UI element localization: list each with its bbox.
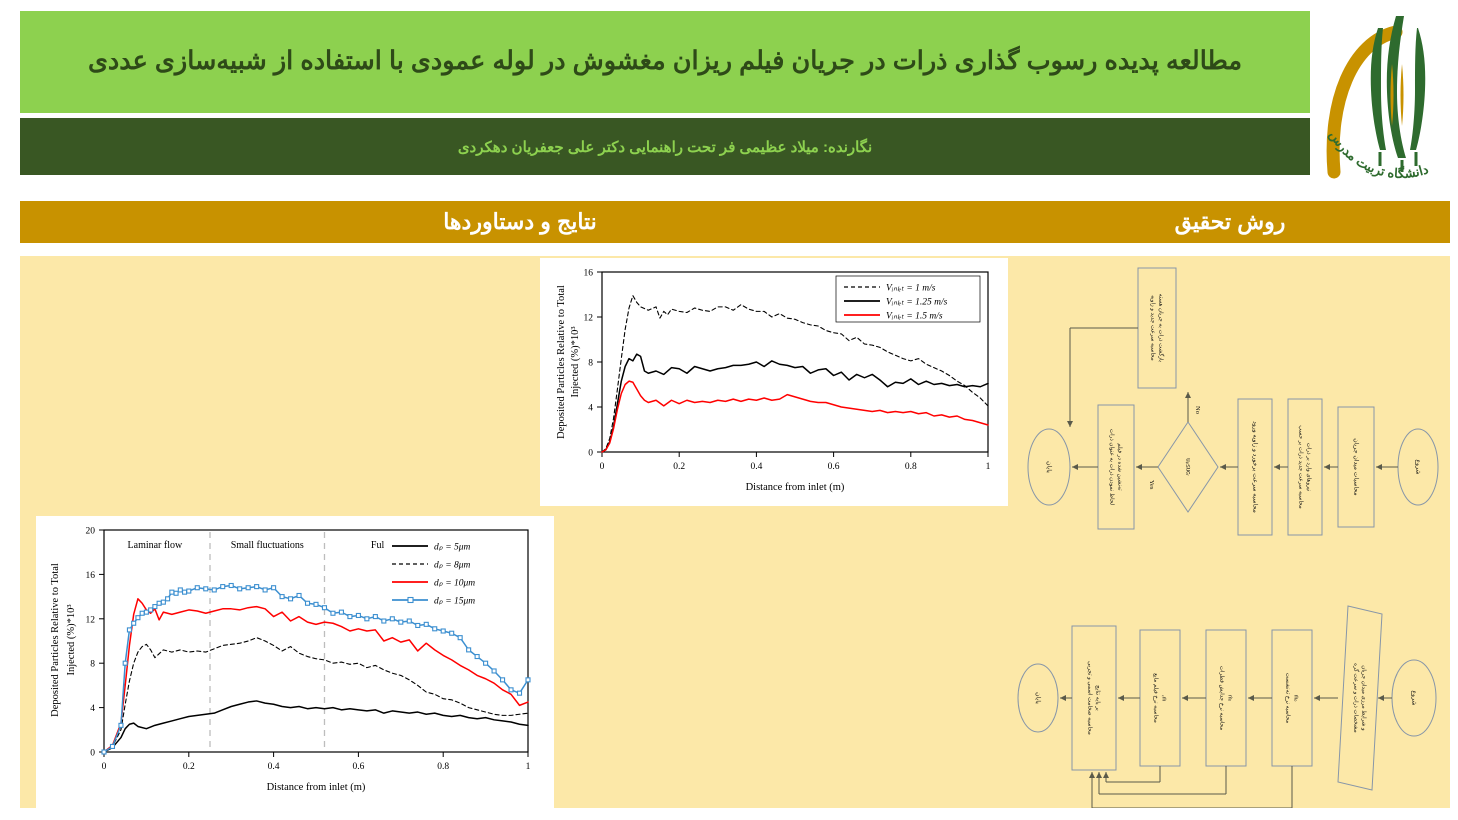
- series-marker: [356, 613, 360, 617]
- series-marker: [238, 587, 242, 591]
- series-marker: [229, 584, 233, 588]
- series-marker: [467, 648, 471, 652]
- university-logo: دانشگاه تربیت مدرس: [1318, 6, 1458, 186]
- vel-ytick: 8: [588, 359, 593, 369]
- chart-particle-diameter: 00.20.40.60.81048121620 Laminar flowSmal…: [36, 516, 554, 808]
- series-marker: [424, 622, 428, 626]
- flow-node-label: محاسبه سرعت جدید و زاویه: [1150, 295, 1157, 361]
- dia-xtick: 0.6: [352, 762, 364, 772]
- series-marker: [195, 586, 199, 590]
- poster-header: مطالعه پدیده رسوب گذاری ذرات در جریان فی…: [0, 0, 1458, 186]
- dia-xtick: 0.8: [437, 762, 449, 772]
- flow-node-label: بازگشت ذرات به جریان هسته: [1158, 294, 1166, 363]
- flow-node-label: لحاظ نمودن ذرات به عنوان ذرات: [1109, 429, 1116, 506]
- dia-ytick: 16: [86, 571, 96, 581]
- chart-diameter-xlabel: Distance from inlet (m): [267, 782, 366, 793]
- chart-velocity-ylabel-line1: Deposited Particles Relative to Total: [556, 285, 567, 439]
- series-marker: [475, 655, 479, 659]
- dia-ytick: 20: [86, 527, 96, 537]
- flow-node-label: نیروهای وارد بر ذرات: [1306, 443, 1313, 492]
- flow-node-md: [1272, 630, 1312, 766]
- series-marker: [102, 750, 106, 754]
- series-marker: [306, 601, 310, 605]
- series-marker: [255, 585, 259, 589]
- series-marker: [484, 661, 488, 665]
- series-marker: [132, 621, 136, 625]
- series-marker: [348, 615, 352, 619]
- legend-entry: Vᵢₙₗₑₜ = 1.25 m/s: [886, 298, 948, 308]
- chart-diameter-ylabel-line1: Deposited Particles Relative to Total: [50, 563, 61, 717]
- vel-ytick: 16: [584, 269, 594, 279]
- vel-xtick: 0.2: [673, 462, 685, 472]
- series-marker: [110, 744, 114, 748]
- poster-root: مطالعه پدیده رسوب گذاری ذرات در جریان فی…: [0, 0, 1458, 820]
- flow-node-forces: [1288, 399, 1322, 535]
- flow-node-label: محاسبه ضخامت اسمی و تجربی: [1087, 661, 1094, 735]
- series-marker: [119, 723, 123, 727]
- flow-edge-label-no: No: [1194, 406, 1201, 414]
- series-marker: [280, 595, 284, 599]
- series-marker: [140, 611, 144, 615]
- flow-node-deposit: [1098, 405, 1134, 529]
- series-marker: [136, 616, 140, 620]
- vel-ytick: 4: [588, 404, 593, 414]
- flow-node-label: محاسبه سرعت جدید ذرات بر حسب: [1298, 425, 1305, 509]
- vel-xtick: 1: [986, 462, 991, 472]
- flow-node-me: [1206, 630, 1246, 766]
- series-marker: [441, 629, 445, 633]
- vel-xtick: 0.4: [750, 462, 762, 472]
- series-marker: [458, 636, 462, 640]
- series-marker: [526, 678, 530, 682]
- flow-node-label: ṁ꜀: [1161, 695, 1167, 702]
- series-marker: [390, 617, 394, 621]
- legend-entry: dₚ = 10μm: [434, 579, 475, 589]
- author-band: نگارنده: میلاد عظیمی فر تحت راهنمایی دکت…: [20, 118, 1310, 175]
- flow-node-label: پایان: [1034, 692, 1041, 704]
- dia-ytick: 8: [90, 660, 95, 670]
- dia-ytick: 12: [86, 615, 96, 625]
- series-marker: [123, 661, 127, 665]
- flow-node-label: محاسبات میدان جریان: [1352, 438, 1359, 495]
- dia-xtick: 0: [102, 762, 107, 772]
- flow-node-label: پایان: [1045, 461, 1052, 473]
- dia-xtick: 0.2: [183, 762, 195, 772]
- series-marker: [373, 615, 377, 619]
- vel-ytick: 12: [584, 314, 594, 324]
- chart-velocity-ylabel-line2: Injected (%)*10³: [570, 326, 581, 397]
- flow-node-input: [1338, 606, 1382, 790]
- series-marker: [272, 586, 276, 590]
- dia-xtick: 1: [526, 762, 531, 772]
- dia-ytick: 4: [90, 704, 95, 714]
- series-marker: [433, 627, 437, 631]
- legend-entry: Vᵢₙₗₑₜ = 1.5 m/s: [886, 312, 943, 322]
- legend-entry: dₚ = 15μm: [434, 597, 475, 607]
- chart-velocity: 00.20.40.60.810481216 Vᵢₙₗₑₜ = 1 m/sVᵢₙₗ…: [540, 258, 1008, 506]
- series-marker: [170, 590, 174, 594]
- research-method-flowchart: شروعمحاسبات میدان جریانمحاسبه سرعت جدید …: [1010, 256, 1450, 808]
- flow-node-label: شروع: [1410, 690, 1417, 705]
- series-marker: [365, 617, 369, 621]
- flow-node-mf: [1140, 630, 1180, 766]
- flow-node-rebound: [1138, 268, 1176, 388]
- series-marker: [509, 688, 513, 692]
- flow-node-label: محاسبه نرخ جدایش قطرات: [1219, 666, 1226, 730]
- section-title-method: روش تحقیق: [1175, 209, 1286, 235]
- series-marker: [322, 606, 326, 610]
- series-marker: [407, 619, 411, 623]
- series-marker: [297, 593, 301, 597]
- section-bar-results: نتایج و دستاوردها: [20, 201, 1020, 243]
- vel-xtick: 0: [600, 462, 605, 472]
- legend-entry: dₚ = 8μm: [434, 561, 470, 571]
- series-marker: [450, 631, 454, 635]
- page-title: مطالعه پدیده رسوب گذاری ذرات در جریان فی…: [72, 44, 1258, 79]
- series-marker: [246, 586, 250, 590]
- series-marker: [161, 600, 165, 604]
- series-marker: [178, 588, 182, 592]
- series-marker: [221, 585, 225, 589]
- series-marker: [314, 602, 318, 606]
- series-marker: [144, 610, 148, 614]
- series-marker: [289, 597, 293, 601]
- regime-annotation: Laminar flow: [128, 540, 183, 551]
- series-marker: [339, 610, 343, 614]
- series-marker: [149, 608, 153, 612]
- flow-node-label: ṁₒ: [1293, 695, 1299, 702]
- series-marker: [127, 628, 131, 632]
- series-marker: [382, 619, 386, 623]
- series-marker: [166, 597, 170, 601]
- series-marker: [399, 620, 403, 624]
- series-marker: [183, 590, 187, 594]
- series-marker: [416, 623, 420, 627]
- dia-xtick: 0.4: [268, 762, 280, 772]
- flow-node-label: بر پایه نتایج: [1095, 685, 1102, 711]
- flow-node-label: ṁᵣ: [1227, 695, 1233, 702]
- flow-node-final: [1072, 626, 1116, 770]
- series-marker: [212, 588, 216, 592]
- flow-node-label: مشخصات ذرات و سرعت گره: [1353, 663, 1361, 733]
- series-marker: [187, 589, 191, 593]
- flow-node-label: محاسبه سرعت برخورد و زاویه ورود: [1251, 421, 1258, 513]
- flow-node-label: و شرایط مرزی میدان جریان: [1361, 665, 1368, 731]
- flow-node-label: uₚ≤uᴄᵣ: [1184, 458, 1191, 476]
- series-marker: [331, 611, 335, 615]
- dia-ytick: 0: [90, 749, 95, 759]
- series-marker: [204, 587, 208, 591]
- flow-node-label: محاسبه نرخ ته‌نشست: [1285, 673, 1292, 724]
- vel-xtick: 0.8: [905, 462, 917, 472]
- legend-entry: Vᵢₙₗₑₜ = 1 m/s: [886, 284, 936, 294]
- author-line: نگارنده: میلاد عظیمی فر تحت راهنمایی دکت…: [458, 138, 872, 156]
- flow-edge-label-yes: Yes: [1148, 480, 1155, 490]
- section-title-results: نتایج و دستاوردها: [443, 209, 597, 235]
- series-marker: [492, 669, 496, 673]
- series-marker: [501, 678, 505, 682]
- vel-xtick: 0.6: [828, 462, 840, 472]
- vel-ytick: 0: [588, 449, 593, 459]
- chart-velocity-xlabel: Distance from inlet (m): [746, 482, 845, 493]
- section-bar-method: روش تحقیق: [1010, 201, 1450, 243]
- title-band: مطالعه پدیده رسوب گذاری ذرات در جریان فی…: [20, 11, 1310, 113]
- series-marker: [157, 601, 161, 605]
- series-marker: [518, 691, 522, 695]
- flow-node-label: شروع: [1414, 459, 1421, 474]
- chart-diameter-ylabel-line2: Injected (%)*10³: [66, 604, 77, 675]
- legend-entry: dₚ = 5μm: [434, 543, 470, 553]
- series-marker: [174, 591, 178, 595]
- series-marker: [263, 588, 267, 592]
- flow-node-label: محاسبه نرخ فیلم مایع: [1153, 673, 1160, 723]
- regime-annotation: Small fluctuations: [231, 540, 304, 551]
- flow-node-label: ته‌نشین شده در فیلم: [1117, 443, 1124, 491]
- series-marker: [153, 605, 157, 609]
